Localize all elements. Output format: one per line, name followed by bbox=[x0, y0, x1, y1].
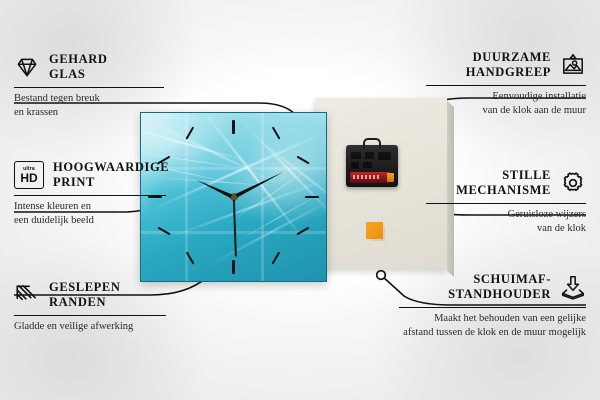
product-clock-assembly bbox=[140, 100, 430, 285]
feature-stille-mechanisme: STILLE MECHANISME Geruisloze wijzers van… bbox=[426, 168, 586, 236]
hour-mark bbox=[271, 127, 280, 140]
feature-desc-line1: Eenvoudige installatie bbox=[426, 90, 586, 104]
hanger-hook-icon bbox=[363, 138, 381, 148]
hour-mark bbox=[305, 196, 319, 199]
feature-desc-line2: een duidelijk beeld bbox=[14, 214, 166, 228]
feature-desc-line1: Intense kleuren en bbox=[14, 200, 166, 214]
clock-center-cap bbox=[231, 194, 237, 200]
feature-title-line2: HANDGREEP bbox=[466, 65, 551, 80]
feature-desc-line1: Maakt het behouden van een gelijke bbox=[399, 312, 586, 326]
foam-spacer bbox=[366, 222, 383, 239]
feature-title-line2: GLAS bbox=[49, 67, 107, 82]
aa-battery bbox=[350, 172, 390, 183]
feature-duurzame-handgreep: DUURZAME HANDGREEP Eenvoudige installati… bbox=[426, 50, 586, 118]
feature-title-line2: MECHANISME bbox=[456, 183, 551, 198]
feature-desc-line1: Geruisloze wijzers bbox=[426, 208, 586, 222]
gear-icon bbox=[560, 170, 586, 196]
feature-geslepen-randen: GESLEPEN RANDEN Gladde en veilige afwerk… bbox=[14, 280, 166, 334]
feature-title-line1: HOOGWAARDIGE bbox=[53, 160, 169, 175]
ultra-hd-icon: ultra HD bbox=[14, 161, 44, 189]
feature-desc-line2: afstand tussen de klok en de muur mogeli… bbox=[399, 326, 586, 340]
feature-desc-line1: Gladde en veilige afwerking bbox=[14, 320, 166, 334]
feature-title-line2: STANDHOUDER bbox=[448, 287, 551, 302]
infographic-canvas: GEHARD GLAS Bestand tegen breuk en krass… bbox=[0, 0, 600, 400]
feature-title-line2: PRINT bbox=[53, 175, 169, 190]
feature-title-line1: STILLE bbox=[456, 168, 551, 183]
feature-schuimafstandhouder: SCHUIMAF- STANDHOUDER Maakt het behouden… bbox=[399, 272, 586, 340]
divider bbox=[426, 85, 586, 87]
divider bbox=[399, 307, 586, 309]
feature-title-line1: GEHARD bbox=[49, 52, 107, 67]
feature-hoogwaardige-print: ultra HD HOOGWAARDIGE PRINT Intense kleu… bbox=[14, 160, 166, 228]
divider bbox=[14, 315, 166, 317]
divider bbox=[14, 195, 166, 197]
hour-mark bbox=[232, 260, 234, 274]
diagonal-lines-icon bbox=[14, 282, 40, 308]
feature-desc-line2: van de klok aan de muur bbox=[426, 104, 586, 118]
feature-desc-line2: en krassen bbox=[14, 106, 164, 120]
hour-mark bbox=[271, 252, 280, 265]
hour-mark bbox=[296, 156, 309, 165]
feature-title-line2: RANDEN bbox=[49, 295, 121, 310]
clock-movement-box bbox=[346, 145, 398, 187]
divider bbox=[426, 203, 586, 205]
clock-second-hand bbox=[233, 195, 237, 257]
feature-desc-line1: Bestand tegen breuk bbox=[14, 92, 164, 106]
clock-front-glass-panel bbox=[140, 112, 327, 282]
diamond-icon bbox=[14, 54, 40, 80]
feature-desc-line2: van de klok bbox=[426, 222, 586, 236]
hour-mark bbox=[232, 120, 234, 134]
feature-title-line1: GESLEPEN bbox=[49, 280, 121, 295]
down-arrow-plate-icon bbox=[560, 274, 586, 300]
divider bbox=[14, 87, 164, 89]
feature-gehard-glas: GEHARD GLAS Bestand tegen breuk en krass… bbox=[14, 52, 164, 120]
ultra-hd-icon-large-text: HD bbox=[20, 172, 37, 184]
feature-title-line1: SCHUIMAF- bbox=[448, 272, 551, 287]
feature-title-line1: DUURZAME bbox=[466, 50, 551, 65]
picture-frame-icon bbox=[560, 52, 586, 78]
